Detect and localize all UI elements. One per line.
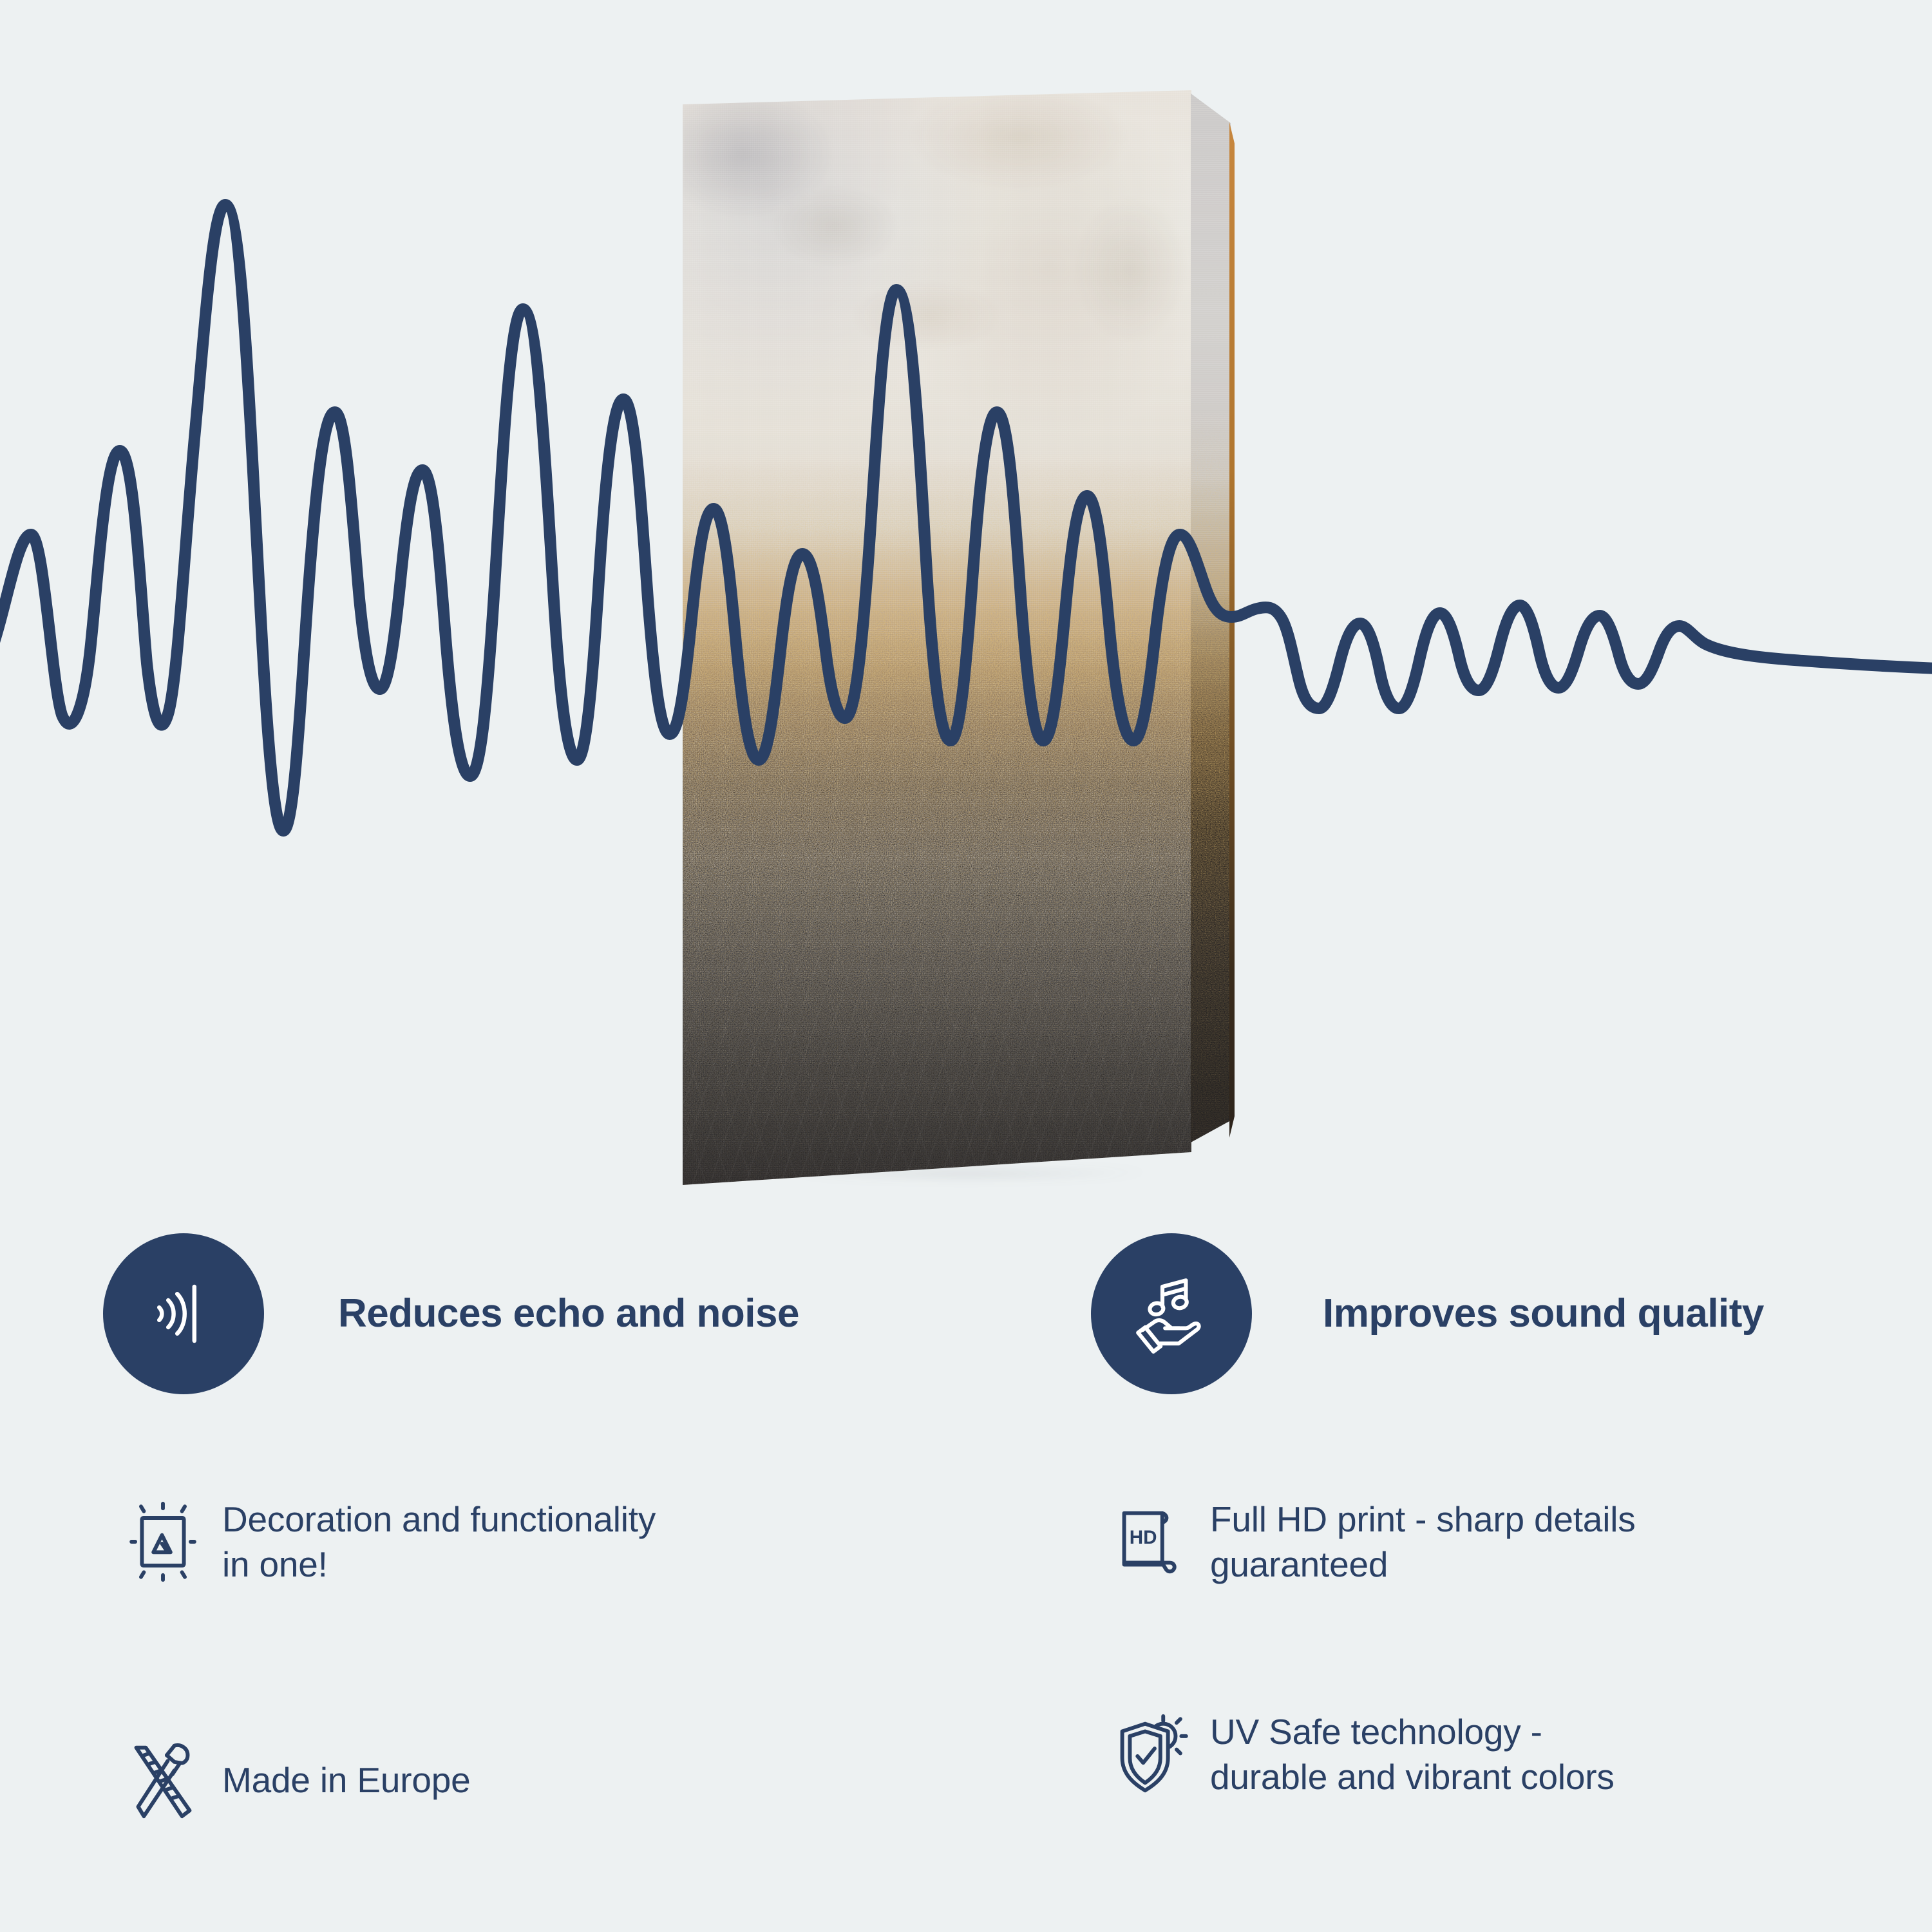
uv-shield-sun-icon [1091, 1707, 1210, 1802]
ruler-hammer-icon [103, 1732, 222, 1828]
feature-text: UV Safe technology - durable and vibrant… [1210, 1709, 1615, 1800]
framed-picture-shine-glyph [115, 1494, 211, 1589]
canvas-wooden-stretcher-edge [1229, 95, 1235, 1164]
product-canvas-image [683, 76, 1233, 1209]
sound-waves-wall-glyph [138, 1269, 229, 1359]
framed-picture-shine-icon [103, 1494, 222, 1589]
feature-text: Full HD print - sharp details guaranteed [1210, 1497, 1636, 1587]
feature-label: Improves sound quality [1323, 1292, 1764, 1336]
canvas-front-face [683, 90, 1191, 1185]
hd-print-sheet-icon: HD [1091, 1494, 1210, 1589]
feature-text-line1: Full HD print - sharp details [1210, 1497, 1636, 1542]
feature-text-line2: durable and vibrant colors [1210, 1754, 1615, 1799]
infographic-stage: Reduces echo and noise Improves sound qu… [0, 0, 1932, 1932]
hd-print-sheet-glyph: HD [1103, 1494, 1198, 1589]
feature-text-line1: UV Safe technology - [1210, 1709, 1615, 1754]
feature-label: Reduces echo and noise [338, 1292, 799, 1336]
canvas-weave-texture [683, 90, 1191, 1185]
feature-decoration-functionality[interactable]: Decoration and functionality in one! [103, 1494, 656, 1589]
sound-waves-wall-icon [103, 1233, 264, 1394]
feature-reduces-echo[interactable]: Reduces echo and noise [103, 1233, 799, 1394]
feature-text: Made in Europe [222, 1757, 471, 1803]
feature-improves-sound[interactable]: Improves sound quality [1091, 1233, 1764, 1394]
uv-shield-sun-glyph [1103, 1707, 1198, 1802]
feature-text-line1: Decoration and functionality [222, 1497, 656, 1542]
feature-uv-safe-technology[interactable]: UV Safe technology - durable and vibrant… [1091, 1707, 1615, 1802]
feature-full-hd-print[interactable]: HD Full HD print - sharp details guarant… [1091, 1494, 1636, 1589]
canvas-side-weave [1191, 79, 1231, 1175]
feature-text-line1: Made in Europe [222, 1757, 471, 1803]
feature-text: Decoration and functionality in one! [222, 1497, 656, 1587]
music-note-hand-icon [1091, 1233, 1252, 1394]
feature-made-in-europe[interactable]: Made in Europe [103, 1732, 471, 1828]
feature-text-line2: guaranteed [1210, 1542, 1636, 1587]
feature-text-line2: in one! [222, 1542, 656, 1587]
ruler-hammer-glyph [115, 1732, 211, 1828]
hd-badge-text: HD [1129, 1527, 1157, 1548]
music-note-hand-glyph [1126, 1269, 1217, 1359]
canvas-side-depth [1191, 79, 1231, 1175]
